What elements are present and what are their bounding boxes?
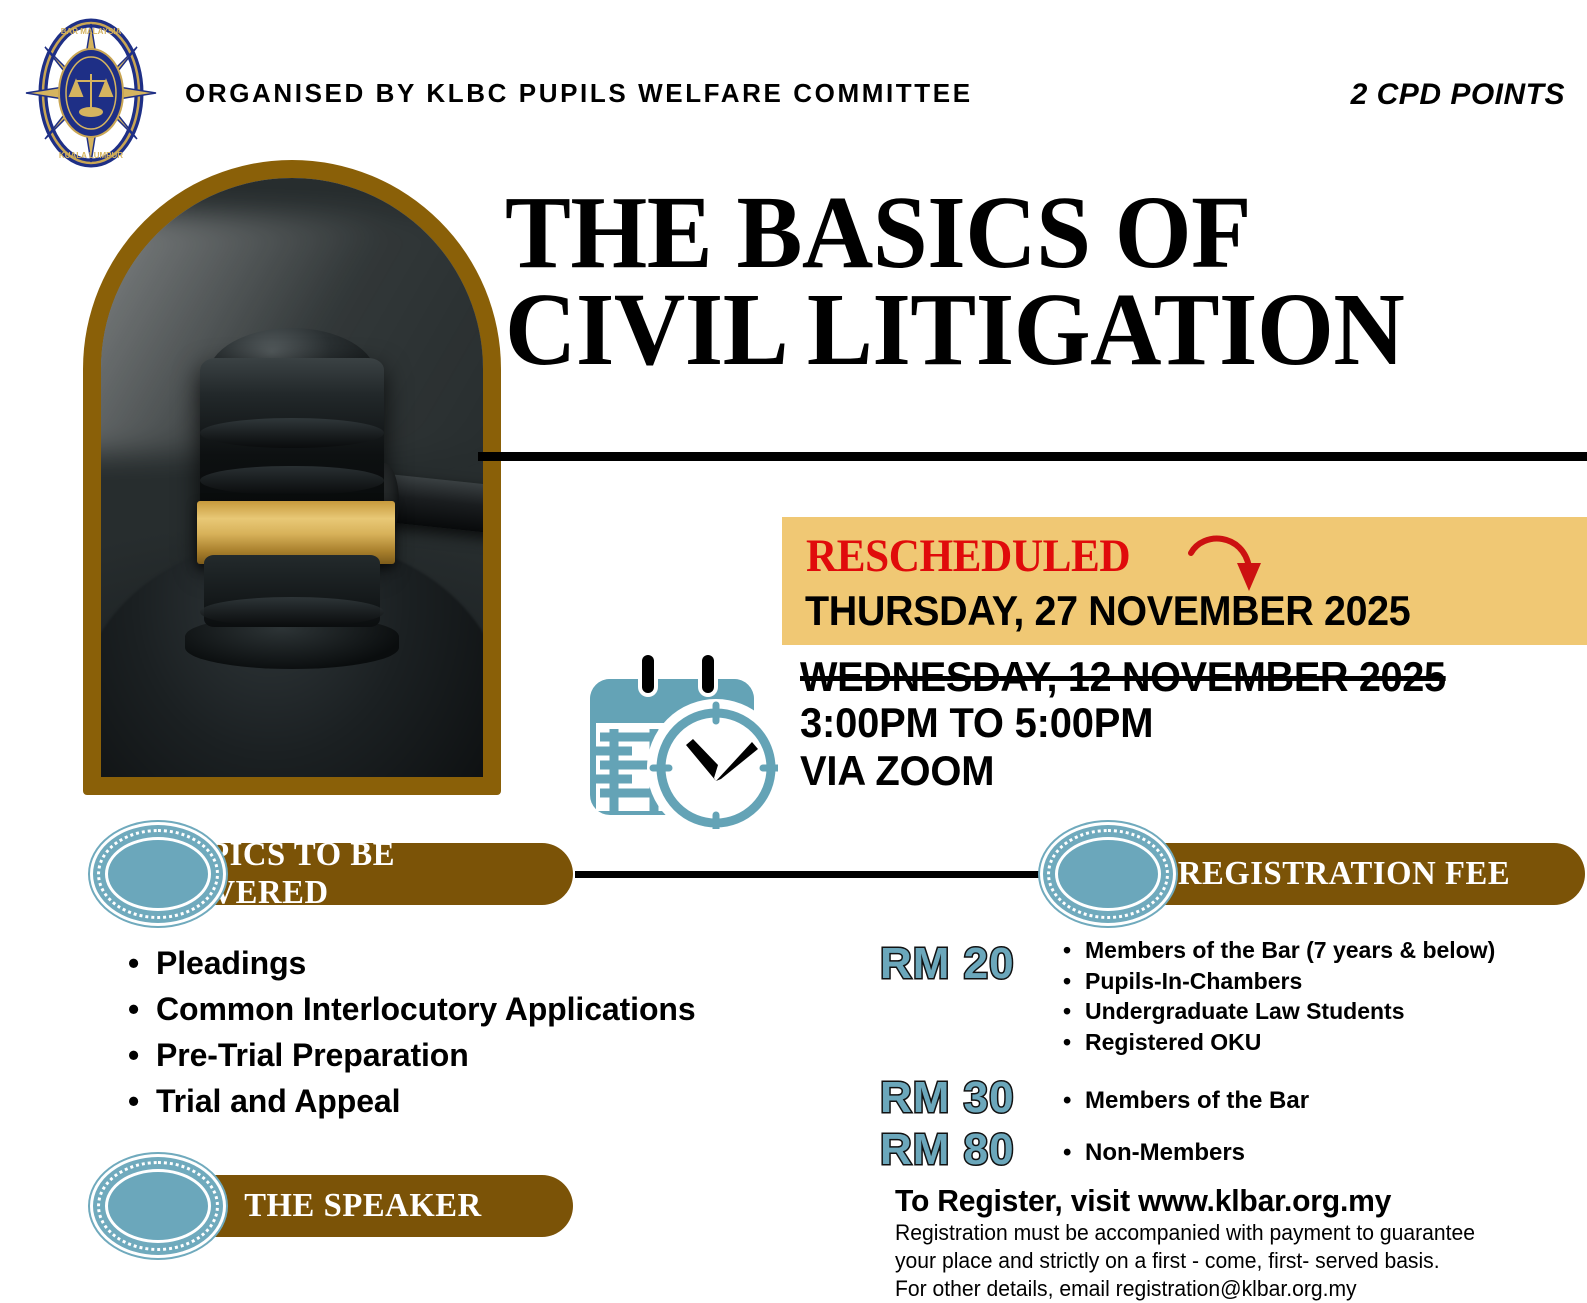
fee-items: Members of the Bar [1055, 1073, 1587, 1117]
old-event-date-struck: WEDNESDAY, 12 NOVEMBER 2025 [800, 655, 1547, 699]
banner-topics-circle-icon [97, 829, 219, 919]
list-item: Common Interlocutory Applications [156, 986, 876, 1032]
banner-speaker: THE SPEAKER [45, 1175, 575, 1237]
list-item: Pleadings [156, 940, 876, 986]
fee-tier-row: RM 30 Members of the Bar [880, 1073, 1587, 1123]
cpd-points-badge: 2 CPD POINTS [1351, 78, 1565, 112]
title-line-1: THE BASICS OF [505, 185, 1522, 282]
register-info-block: To Register, visit www.klbar.org.my Regi… [895, 1183, 1585, 1303]
poster-canvas: BAR MALAYSIA KUALA LUMPUR ORGANISED BY K… [0, 0, 1587, 1260]
svg-text:KUALA LUMPUR: KUALA LUMPUR [59, 151, 123, 160]
reschedule-label: RESCHEDULED [806, 529, 1130, 583]
fee-tier-row: RM 80 Non-Members [880, 1125, 1587, 1175]
fee-price: RM 20 [880, 935, 1055, 989]
registration-fee-table: RM 20 Members of the Bar (7 years & belo… [880, 935, 1587, 1175]
gavel-image-frame [83, 160, 501, 795]
reschedule-highlight-box: RESCHEDULED THURSDAY, 27 NOVEMBER 2025 [782, 517, 1587, 645]
banner-registration-pill [1103, 843, 1585, 905]
new-event-date: THURSDAY, 27 NOVEMBER 2025 [805, 587, 1410, 635]
banner-topics: TOPICS TO BE COVERED [45, 843, 575, 905]
event-datetime-block: WEDNESDAY, 12 NOVEMBER 2025 3:00PM TO 5:… [800, 655, 1587, 796]
list-item: Pre-Trial Preparation [156, 1032, 876, 1078]
list-item: Pupils-In-Chambers [1085, 966, 1587, 997]
poster-title: THE BASICS OF CIVIL LITIGATION [505, 185, 1575, 378]
list-item: Undergraduate Law Students [1085, 996, 1587, 1027]
topics-list: Pleadings Common Interlocutory Applicati… [122, 940, 876, 1124]
list-item: Registered OKU [1085, 1027, 1587, 1058]
banner-speaker-circle-icon [97, 1161, 219, 1251]
title-divider [478, 452, 1587, 461]
event-platform: VIA ZOOM [800, 747, 1551, 795]
register-url-heading[interactable]: To Register, visit www.klbar.org.my [895, 1183, 1564, 1219]
banner-registration: REGISTRATION FEE [995, 843, 1587, 905]
list-item: Non-Members [1085, 1137, 1587, 1169]
calendar-clock-icon [566, 641, 778, 829]
fee-price: RM 80 [880, 1125, 1055, 1175]
event-time: 3:00PM TO 5:00PM [800, 699, 1551, 747]
fee-items: Non-Members [1055, 1125, 1587, 1169]
gavel-photo [101, 178, 483, 777]
organised-by-text: ORGANISED BY KLBC PUPILS WELFARE COMMITT… [185, 78, 973, 109]
banner-registration-circle-icon [1047, 829, 1169, 919]
fee-tier-row: RM 20 Members of the Bar (7 years & belo… [880, 935, 1587, 1057]
fee-items: Members of the Bar (7 years & below) Pup… [1055, 935, 1587, 1057]
list-item: Trial and Appeal [156, 1078, 876, 1124]
bar-malaysia-logo-icon: BAR MALAYSIA KUALA LUMPUR [22, 18, 160, 168]
register-note-line-1: Registration must be accompanied with pa… [895, 1219, 1557, 1247]
register-note-line-2: your place and strictly on a first - com… [895, 1247, 1557, 1275]
banner-connector-line [575, 871, 1053, 878]
register-note-line-3: For other details, email registration@kl… [895, 1275, 1557, 1303]
title-line-2: CIVIL LITIGATION [505, 282, 1522, 379]
list-item: Members of the Bar (7 years & below) [1085, 935, 1587, 966]
fee-price: RM 30 [880, 1073, 1055, 1123]
list-item: Members of the Bar [1085, 1085, 1587, 1117]
svg-text:BAR MALAYSIA: BAR MALAYSIA [61, 27, 122, 36]
